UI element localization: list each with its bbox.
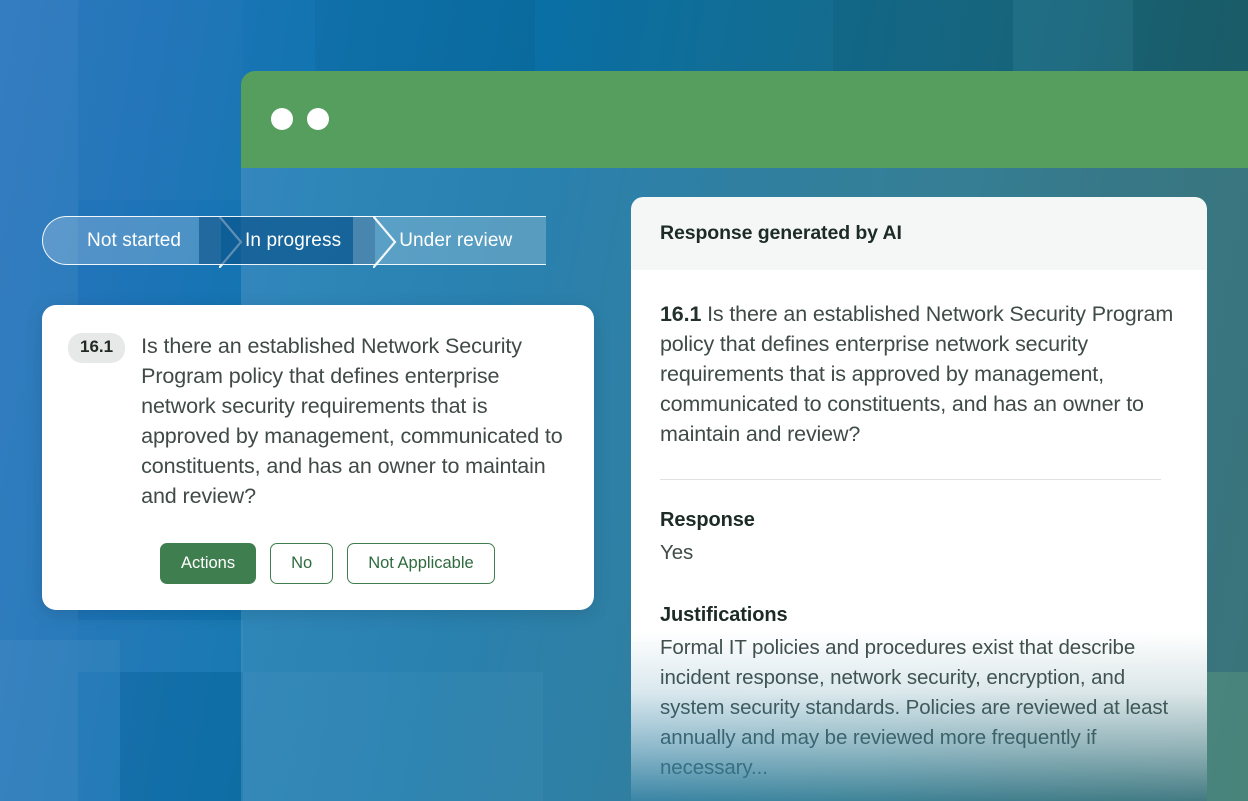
ai-response-label: Response [660, 509, 1176, 532]
ai-question-number: 16.1 [660, 302, 701, 326]
question-card: 16.1 Is there an established Network Sec… [42, 305, 594, 610]
window-dot-2-icon[interactable] [307, 108, 329, 130]
question-actions: Actions No Not Applicable [160, 543, 566, 584]
ai-question: 16.1 Is there an established Network Sec… [660, 299, 1176, 449]
ai-panel-title: Response generated by AI [660, 222, 902, 245]
ai-response-value: Yes [660, 538, 1176, 568]
window-dot-1-icon[interactable] [271, 108, 293, 130]
app-screenshot: Not started In progress Under review 16.… [0, 0, 1248, 801]
window-titlebar [241, 71, 1248, 168]
question-row: 16.1 Is there an established Network Sec… [68, 331, 566, 511]
ai-response-panel: Response generated by AI 16.1 Is there a… [631, 197, 1207, 801]
question-number-badge: 16.1 [68, 333, 125, 363]
ai-divider [660, 479, 1161, 480]
ai-panel-body: 16.1 Is there an established Network Sec… [631, 270, 1207, 783]
stepper-step-not-started[interactable]: Not started [42, 216, 221, 265]
assessment-status-stepper: Not started In progress Under review [42, 216, 546, 265]
ai-justifications-value: Formal IT policies and procedures exist … [660, 633, 1176, 783]
ai-justifications-label: Justifications [660, 604, 1176, 627]
bg-block [120, 672, 243, 801]
bg-block [1013, 0, 1133, 72]
no-button[interactable]: No [270, 543, 333, 584]
actions-button[interactable]: Actions [160, 543, 256, 584]
bg-block [78, 0, 243, 200]
stepper-step-in-progress[interactable]: In progress [199, 216, 375, 265]
not-applicable-button[interactable]: Not Applicable [347, 543, 495, 584]
stepper-step-under-review[interactable]: Under review [353, 216, 546, 265]
stepper-step-label: In progress [245, 230, 341, 252]
bg-block [315, 0, 535, 72]
ai-question-text: Is there an established Network Security… [660, 302, 1173, 446]
bg-block [78, 620, 243, 672]
question-text: Is there an established Network Security… [141, 331, 566, 511]
ai-panel-header: Response generated by AI [631, 197, 1207, 270]
bg-block [833, 0, 1013, 72]
stepper-step-label: Not started [87, 230, 181, 252]
stepper-step-label: Under review [399, 230, 512, 252]
bg-block [1133, 0, 1248, 72]
